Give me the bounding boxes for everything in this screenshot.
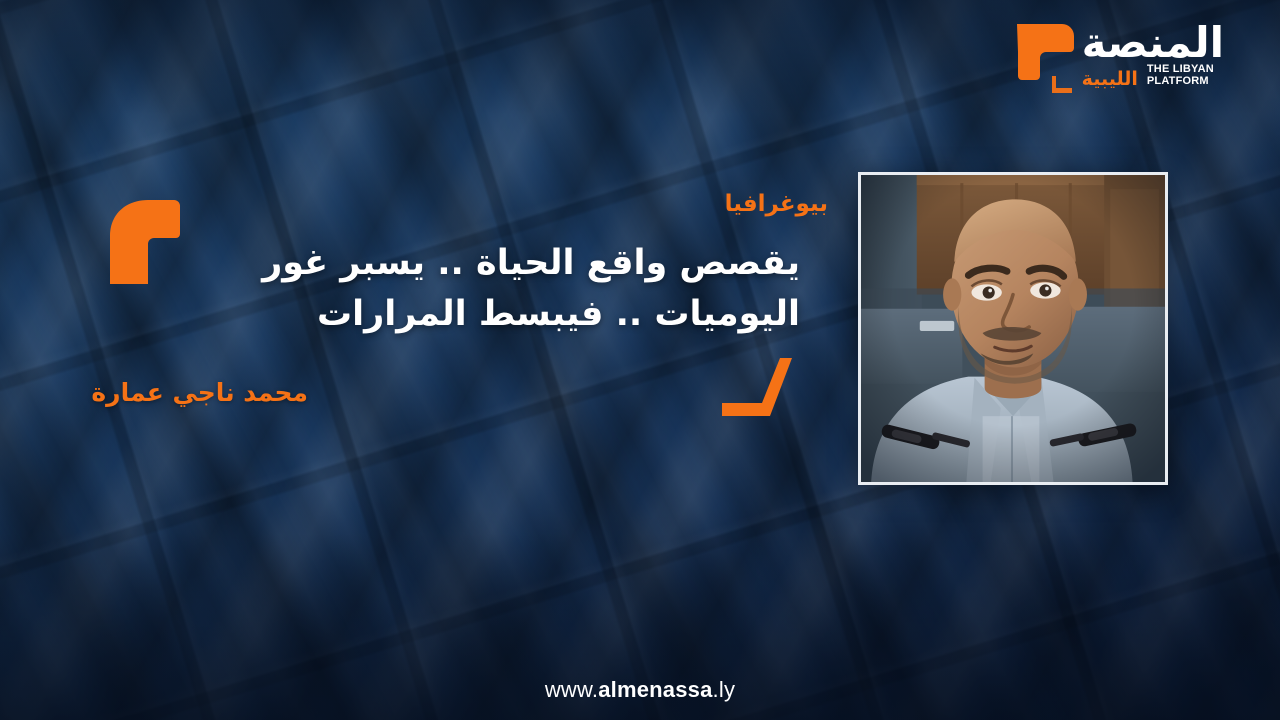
website-url[interactable]: www.almenassa.ly xyxy=(0,677,1280,703)
orange-closing-quote-icon xyxy=(718,356,794,422)
almenassa-logo-mark-icon xyxy=(1002,18,1076,96)
kicker-label: بيوغرافيا xyxy=(725,191,828,217)
logo-arabic-main: المنصة xyxy=(1082,22,1224,63)
url-prefix: www. xyxy=(545,677,598,702)
logo-text-group: المنصة الليبية THE LIBYAN PLATFORM xyxy=(1082,18,1224,89)
author-name: محمد ناجي عمارة xyxy=(91,378,308,407)
logo-arabic-sub: الليبية xyxy=(1082,70,1138,89)
logo-sub-row: الليبية THE LIBYAN PLATFORM xyxy=(1082,64,1214,89)
url-tld: .ly xyxy=(713,677,736,702)
logo-english-line2: PLATFORM xyxy=(1147,76,1214,88)
brand-logo[interactable]: المنصة الليبية THE LIBYAN PLATFORM xyxy=(1002,18,1224,96)
headline-line-1: يقصص واقع الحياة .. يسبر غور xyxy=(180,238,800,289)
orange-opening-quote-icon xyxy=(92,196,192,288)
social-card: المنصة الليبية THE LIBYAN PLATFORM بيوغر… xyxy=(0,0,1280,720)
portrait-photo xyxy=(861,175,1165,482)
logo-english: THE LIBYAN PLATFORM xyxy=(1147,64,1214,89)
portrait-frame xyxy=(858,172,1168,485)
headline-line-2: اليوميات .. فيبسط المرارات xyxy=(180,289,800,340)
url-brand: almenassa xyxy=(598,677,712,702)
page-title: يقصص واقع الحياة .. يسبر غور اليوميات ..… xyxy=(180,238,800,340)
